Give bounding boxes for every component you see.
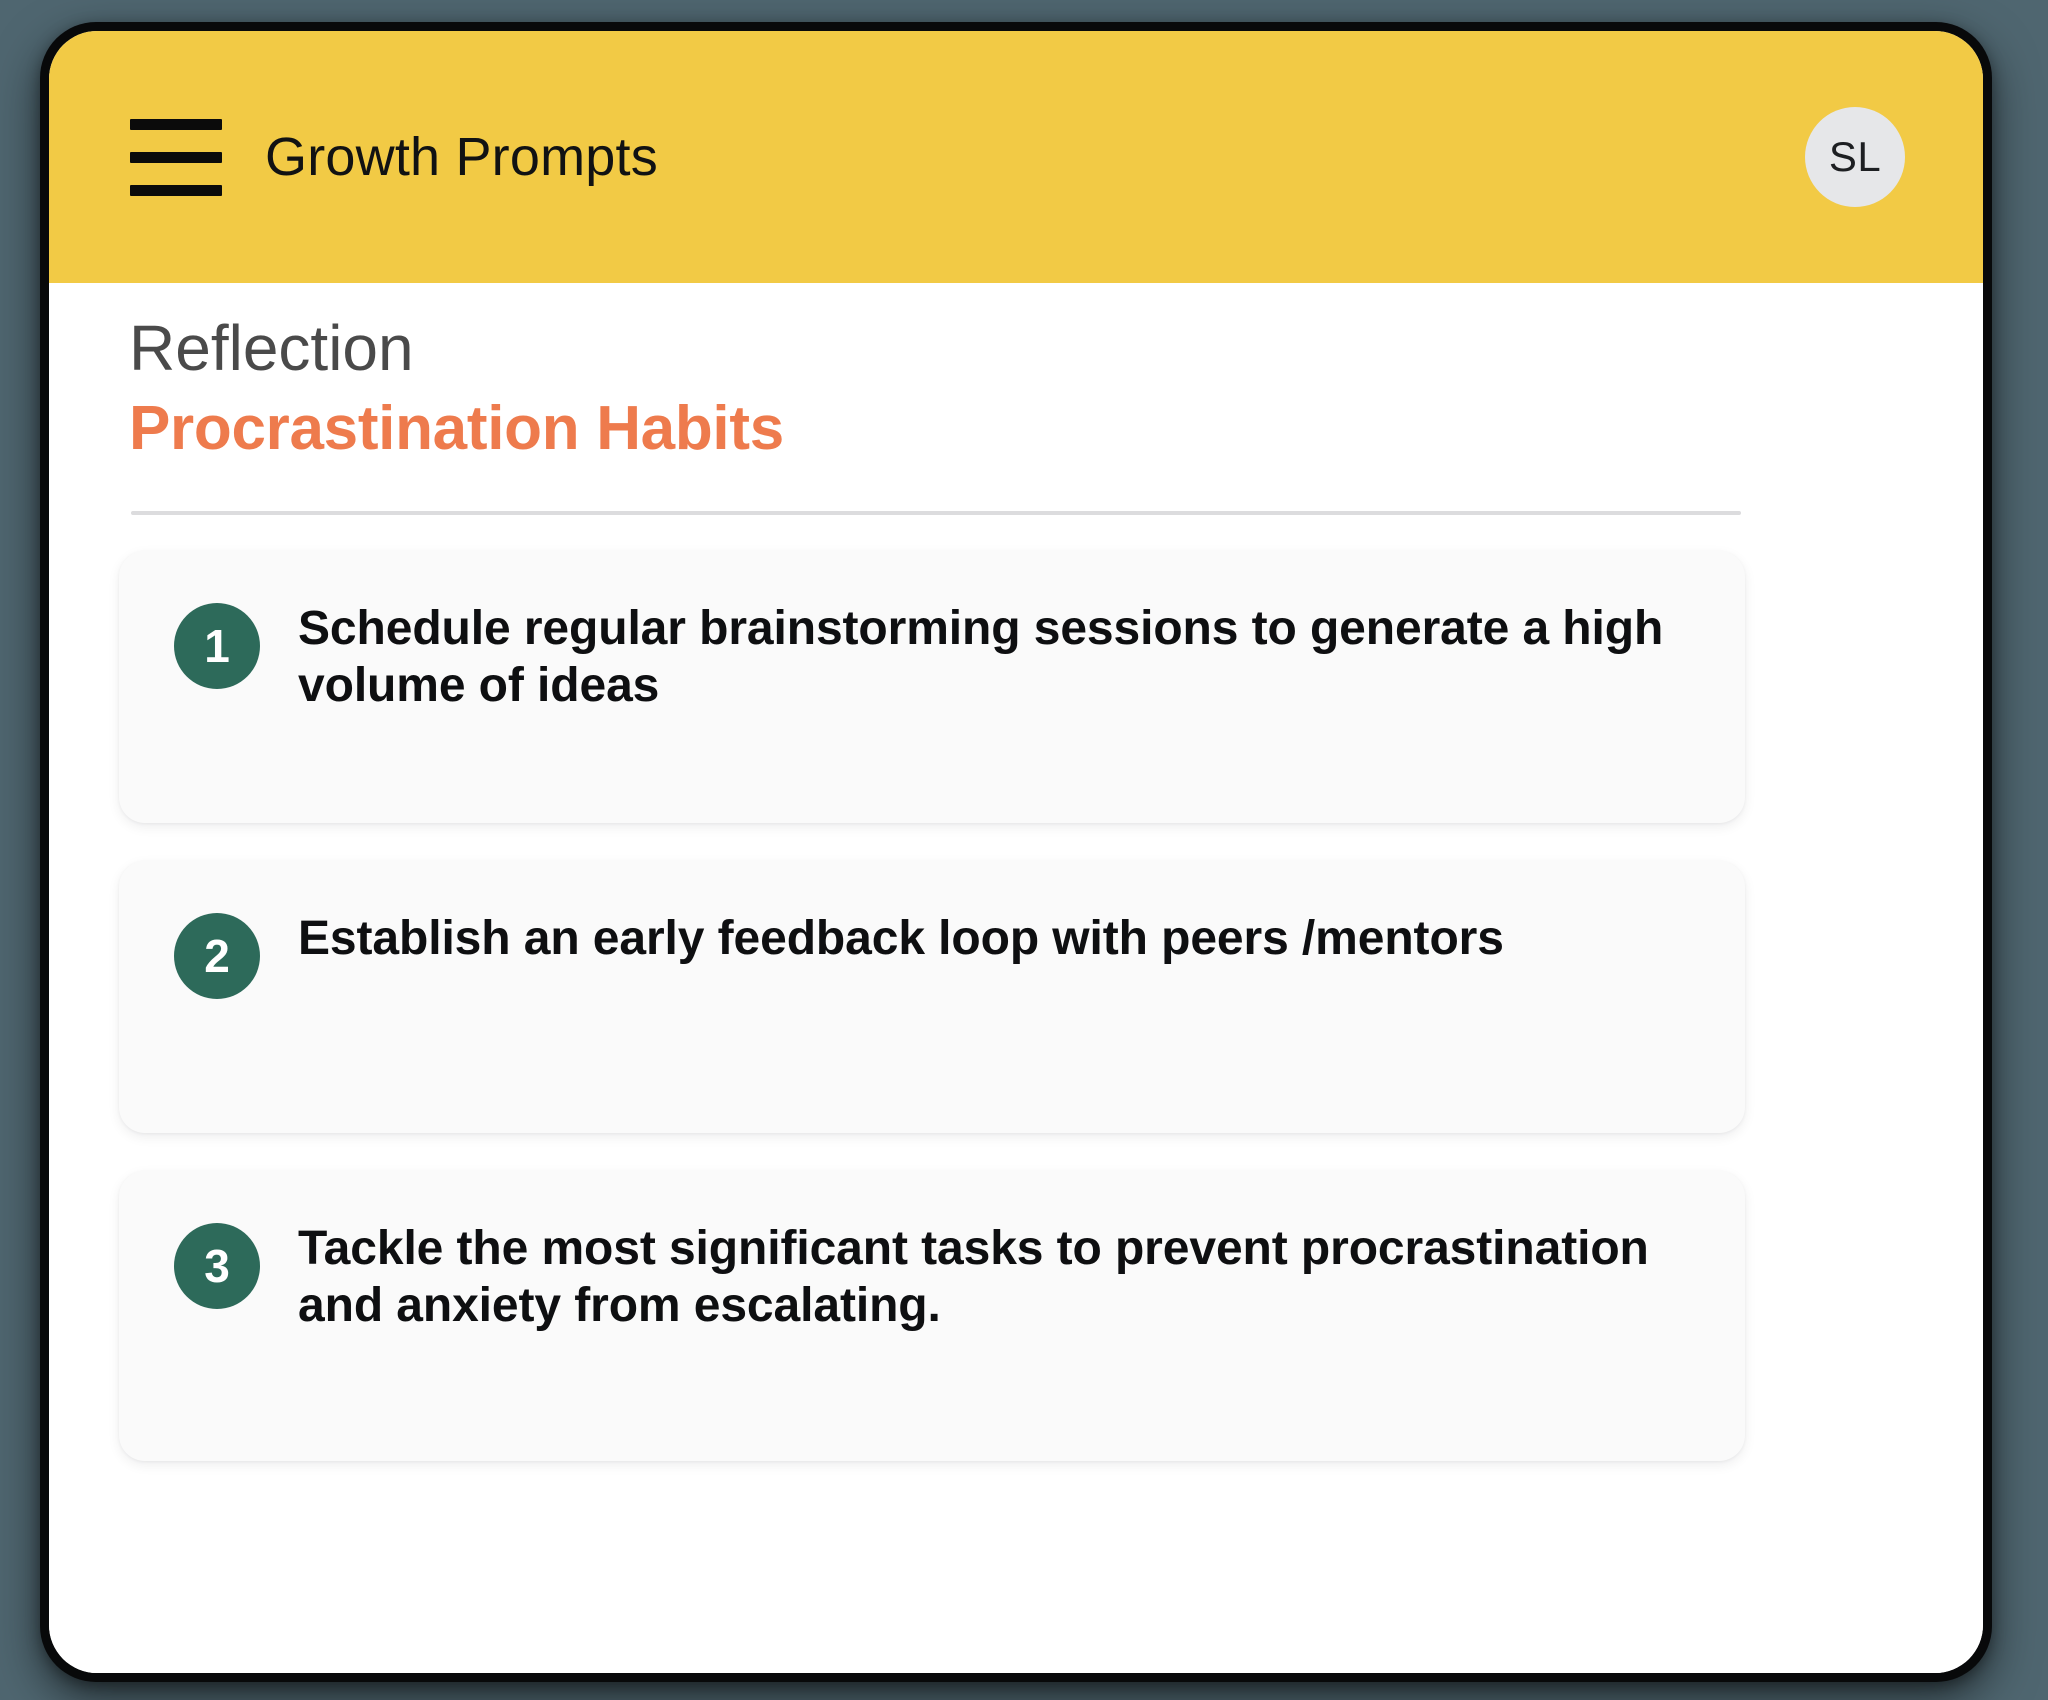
phone-screen: Growth Prompts SL Reflection Procrastina…	[49, 31, 1983, 1673]
prompt-text: Tackle the most significant tasks to pre…	[298, 1221, 1698, 1334]
title-divider	[131, 511, 1741, 515]
avatar[interactable]: SL	[1805, 107, 1905, 207]
step-number-badge: 2	[174, 913, 260, 999]
prompt-text: Establish an early feedback loop with pe…	[298, 911, 1504, 968]
section-eyebrow: Reflection	[129, 311, 414, 385]
avatar-initials: SL	[1829, 133, 1881, 181]
prompt-card-inner: 2 Establish an early feedback loop with …	[174, 911, 1705, 999]
content-area: Reflection Procrastination Habits 1 Sche…	[49, 283, 1983, 1673]
hamburger-menu-icon[interactable]	[130, 117, 222, 197]
prompt-card-inner: 3 Tackle the most significant tasks to p…	[174, 1221, 1705, 1334]
hamburger-line-bottom	[130, 185, 222, 196]
prompt-card[interactable]: 1 Schedule regular brainstorming session…	[119, 551, 1745, 823]
phone-frame: Growth Prompts SL Reflection Procrastina…	[40, 22, 1992, 1682]
app-bar: Growth Prompts SL	[49, 31, 1983, 283]
step-number-badge: 1	[174, 603, 260, 689]
page-title: Procrastination Habits	[129, 393, 784, 464]
hamburger-line-top	[130, 119, 222, 130]
prompt-card-inner: 1 Schedule regular brainstorming session…	[174, 601, 1705, 714]
prompt-card[interactable]: 2 Establish an early feedback loop with …	[119, 861, 1745, 1133]
prompt-card[interactable]: 3 Tackle the most significant tasks to p…	[119, 1171, 1745, 1461]
hamburger-line-middle	[130, 152, 222, 163]
prompt-card-list: 1 Schedule regular brainstorming session…	[49, 551, 1983, 1673]
app-bar-title: Growth Prompts	[265, 117, 658, 197]
step-number-badge: 3	[174, 1223, 260, 1309]
prompt-text: Schedule regular brainstorming sessions …	[298, 601, 1698, 714]
